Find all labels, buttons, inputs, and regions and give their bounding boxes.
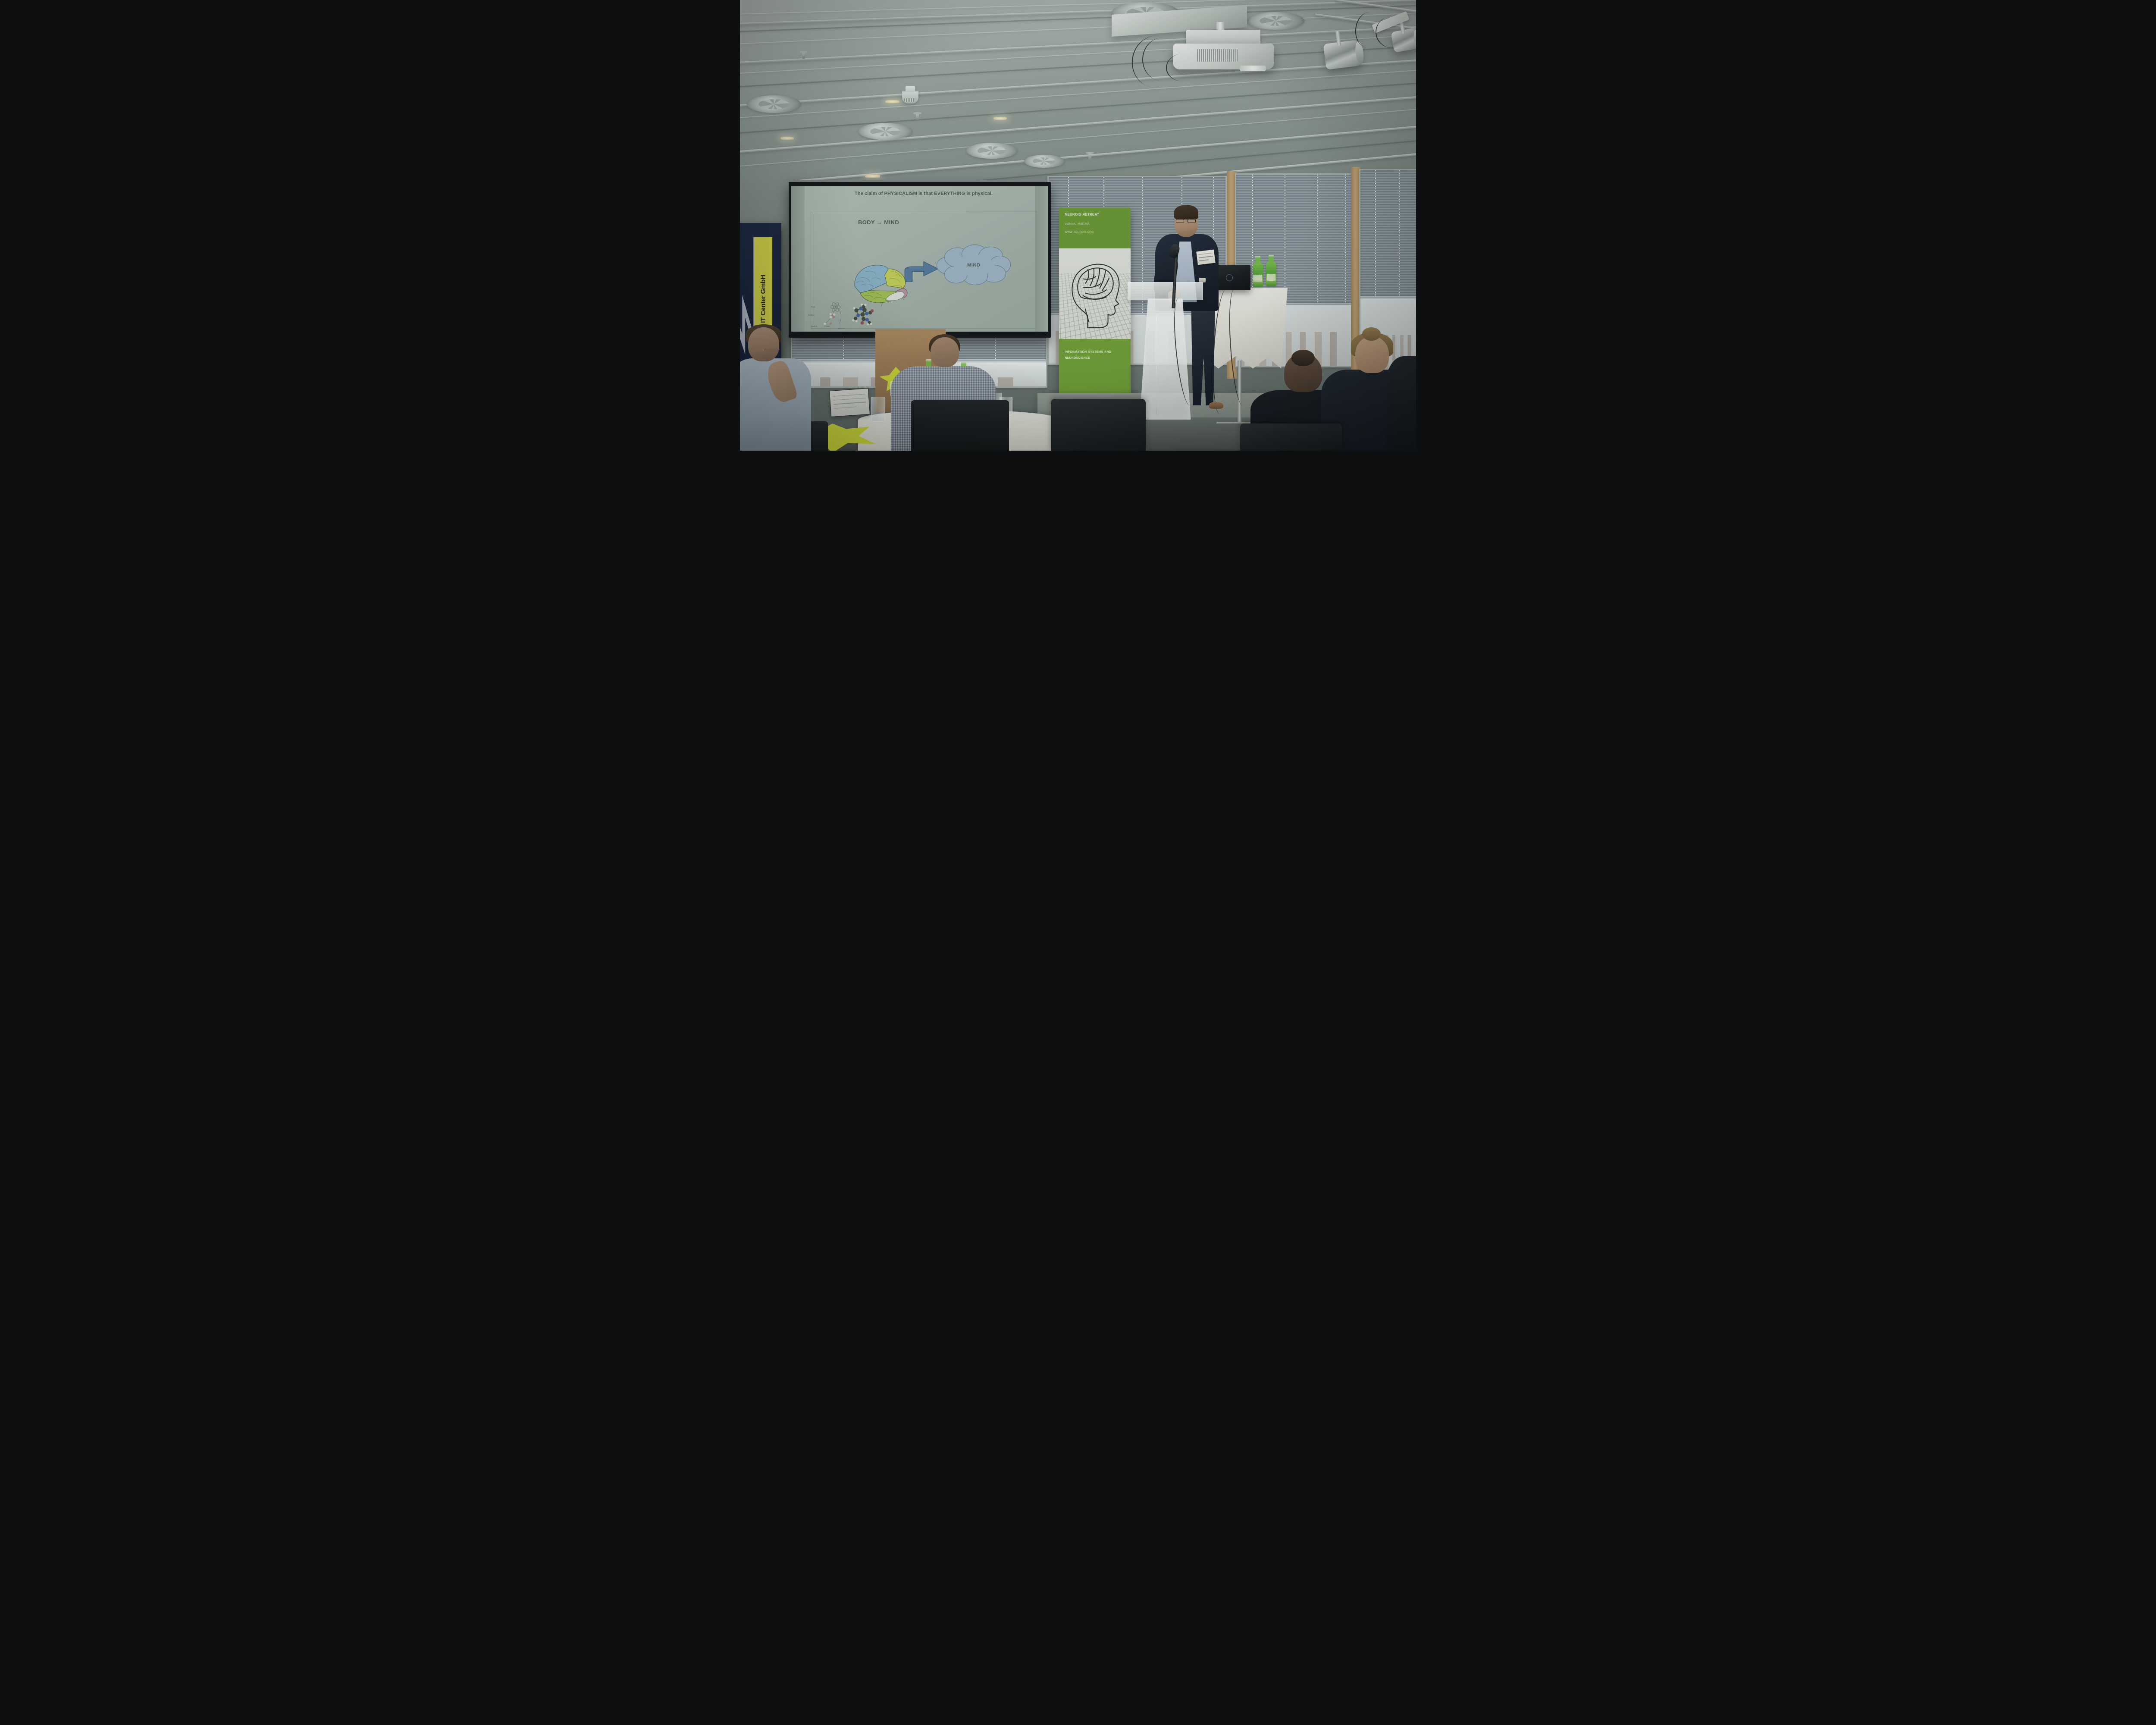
speaker-name-badge [1196, 250, 1215, 265]
banner-location: Vienna, Austria [1065, 222, 1089, 226]
speaker-shoe [1209, 402, 1223, 409]
air-diffuser-icon [1024, 155, 1065, 168]
air-diffuser-icon [747, 95, 801, 113]
sprinkler-head-icon [916, 113, 919, 120]
stage-spotlight-icon [1323, 40, 1363, 70]
slide-title: The claim of PHYSICALISM is that EVERYTH… [815, 191, 1033, 196]
water-bottle[interactable] [1266, 262, 1276, 285]
sprinkler-head-icon [802, 52, 805, 59]
neurois-retreat-banner: NeuroIS Retreat Vienna, Austria www.Neur… [1059, 208, 1131, 401]
mind-cloud-icon: MIND [935, 245, 1012, 285]
projection-screen: The claim of PHYSICALISM is that EVERYTH… [791, 186, 1048, 332]
banner-footer: Information Systems and Neuroscience [1065, 349, 1126, 361]
audience-member-center-head [931, 337, 959, 367]
mind-cloud-label: MIND [935, 263, 1012, 268]
sprinkler-head-icon [1088, 153, 1091, 160]
atom-label-neutron: Neutron [811, 325, 817, 327]
chair[interactable] [1051, 399, 1146, 451]
banner-graphic-panel [1059, 248, 1131, 339]
chair[interactable] [1240, 423, 1341, 451]
downlight-icon [780, 137, 794, 139]
atom-label-nucleus: Nucleus [808, 314, 815, 316]
audience-hair-bun [1362, 327, 1381, 341]
water-bottle[interactable] [1253, 263, 1263, 286]
head-brain-profile-icon [1059, 248, 1131, 339]
audience-laptop[interactable] [829, 388, 870, 417]
banner-title: NeuroIS Retreat [1065, 212, 1099, 217]
conference-photo: The claim of PHYSICALISM is that EVERYTH… [740, 0, 1416, 451]
audience-hair-bun [1291, 350, 1314, 366]
speaker-hair [1174, 205, 1198, 219]
window-blind[interactable] [1360, 170, 1416, 298]
downlight-icon [993, 117, 1007, 119]
atom-label-atom: Atom [811, 306, 815, 308]
downlight-icon [885, 100, 899, 103]
audience-member-edge-torso [1385, 356, 1416, 451]
ceiling [740, 0, 1416, 198]
it-center-label: IT Center GmbH [759, 275, 767, 323]
molecule-model-icon [840, 302, 886, 327]
audience-eyeglasses-icon [764, 350, 780, 353]
air-diffuser-icon [1247, 12, 1304, 30]
chair[interactable] [911, 400, 1009, 451]
speaker-eyeglasses-icon [1176, 219, 1195, 223]
air-diffuser-icon [966, 143, 1017, 159]
brain-diagram-icon [843, 262, 920, 307]
water-glass[interactable] [871, 397, 885, 422]
projection-screen-frame: The claim of PHYSICALISM is that EVERYTH… [789, 182, 1051, 338]
smoke-detector-icon [902, 91, 918, 103]
atom-label-proton: Proton [824, 325, 830, 327]
lectern-top [1128, 282, 1203, 300]
slide-heading: BODY → MIND [858, 219, 899, 226]
atom-label-electron: Electron [838, 327, 845, 329]
dell-logo-icon [1226, 274, 1233, 281]
air-diffuser-icon [858, 123, 912, 140]
audience-member-far-right-head [1355, 336, 1389, 373]
downlight-icon [865, 175, 880, 178]
audience-member-left-head [748, 327, 779, 361]
banner-url: www.NeuroIS.org [1065, 230, 1094, 234]
